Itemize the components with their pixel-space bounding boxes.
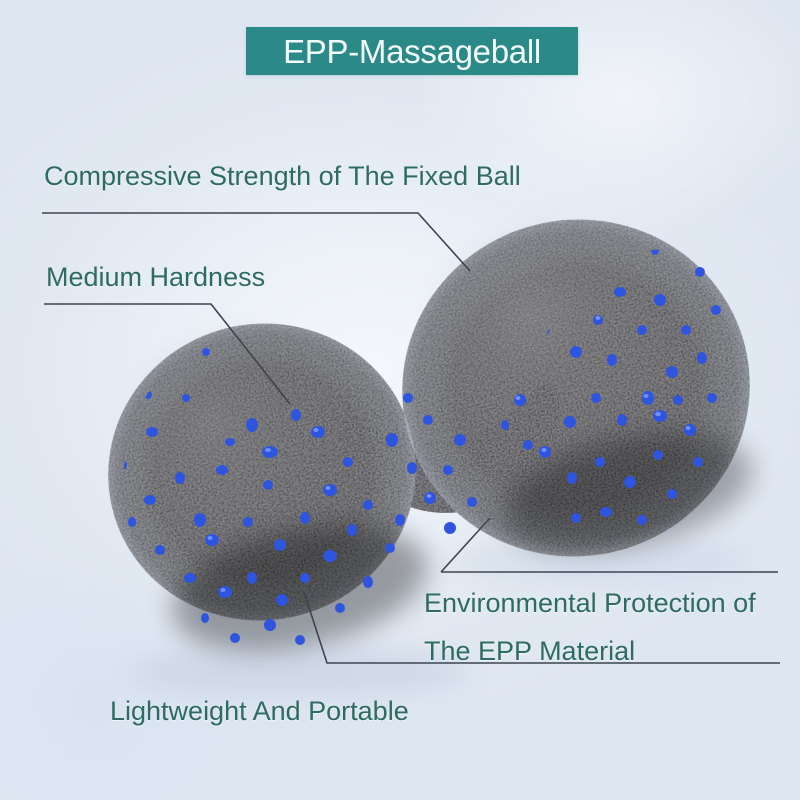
title-banner: EPP-Massageball [246, 27, 578, 75]
infographic-canvas: EPP-Massageball Compressive Strength of … [0, 0, 800, 800]
callout-medium-hardness: Medium Hardness [46, 261, 265, 294]
product-image [0, 0, 800, 800]
callout-environmental-protection: Environmental Protection of [424, 587, 756, 620]
callout-epp-material: The EPP Material [424, 635, 635, 668]
callout-compressive-strength: Compressive Strength of The Fixed Ball [44, 160, 521, 193]
callout-lightweight-portable: Lightweight And Portable [110, 695, 409, 728]
title-text: EPP-Massageball [283, 35, 541, 68]
